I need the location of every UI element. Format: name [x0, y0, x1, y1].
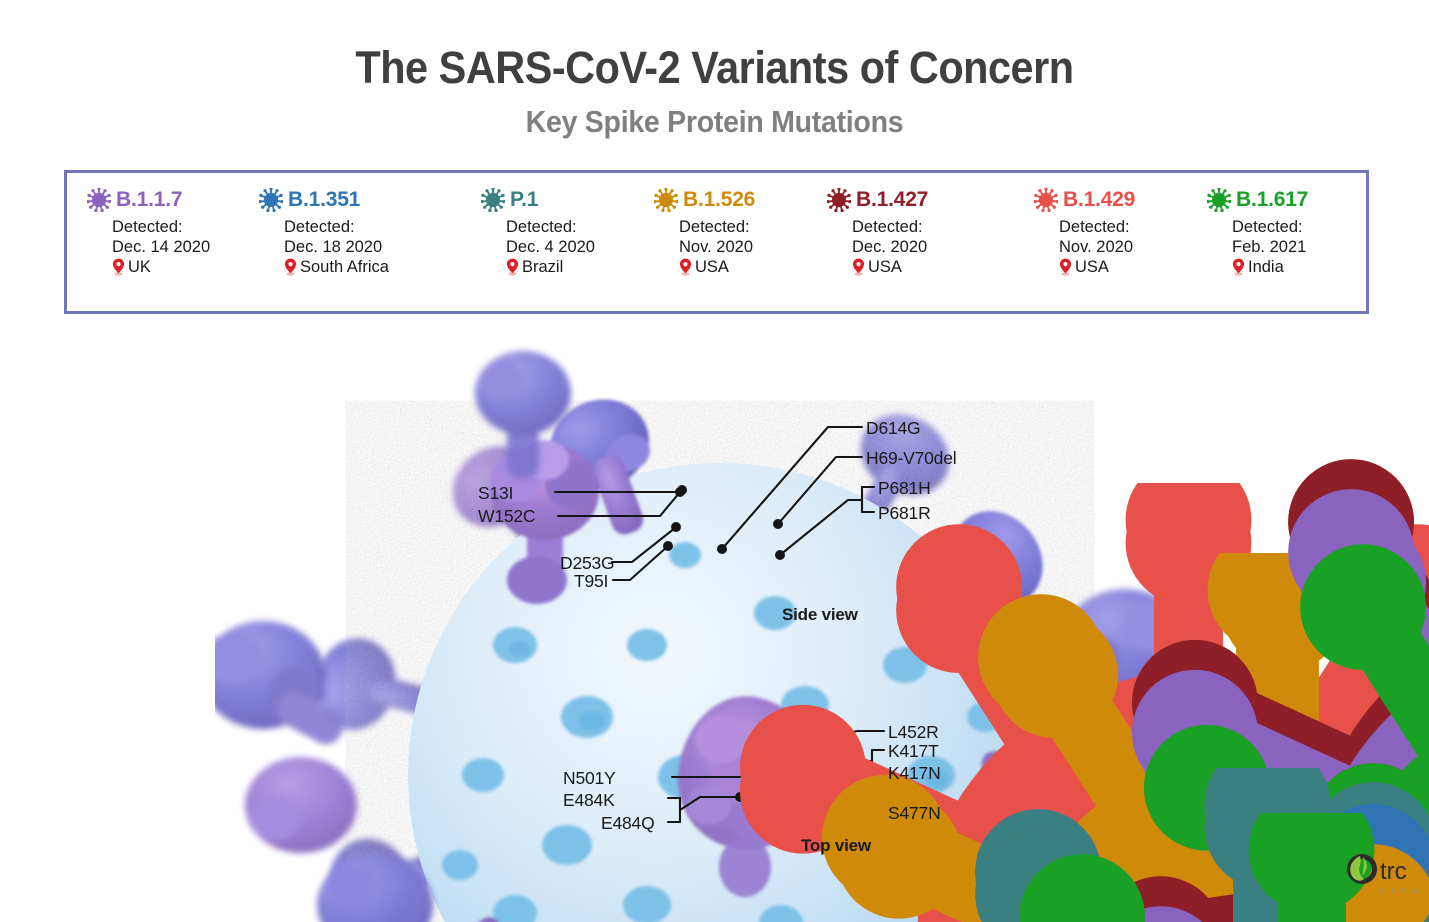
- mutation-label-n501y: N501Y: [553, 768, 616, 789]
- logo-wordmark: trc: [1380, 858, 1407, 885]
- infographic-canvas: The SARS-CoV-2 Variants of Concern Key S…: [0, 0, 1429, 922]
- trc-canada-logo[interactable]: trc c a n a d a: [1340, 848, 1424, 904]
- mutation-label-p681r: P681R: [878, 503, 935, 524]
- side-view-label: Side view: [782, 605, 858, 625]
- mutation-label-s13i: S13I: [474, 483, 513, 504]
- mutation-label-t95i: T95I: [570, 571, 608, 592]
- logo-mark-icon: [1347, 854, 1377, 884]
- mutation-label-h69-v70del: H69-V70del: [866, 448, 960, 469]
- annotation-layer: S13I W152C D253G T95I D614G H69-V70del P…: [0, 0, 1429, 922]
- mutation-label-e484k: E484K: [553, 790, 615, 811]
- mutation-label-l452r: L452R: [888, 722, 949, 743]
- mutation-label-e484q: E484Q: [597, 813, 654, 834]
- mutation-label-d614g: D614G: [866, 418, 930, 439]
- logo-subtext: c a n a d a: [1380, 886, 1424, 895]
- top-view-label: Top view: [801, 836, 871, 856]
- mutation-label-w152c: W152C: [474, 506, 535, 527]
- mutation-label-k417t: K417T: [888, 741, 943, 762]
- mutation-label-p681h: P681H: [878, 478, 935, 499]
